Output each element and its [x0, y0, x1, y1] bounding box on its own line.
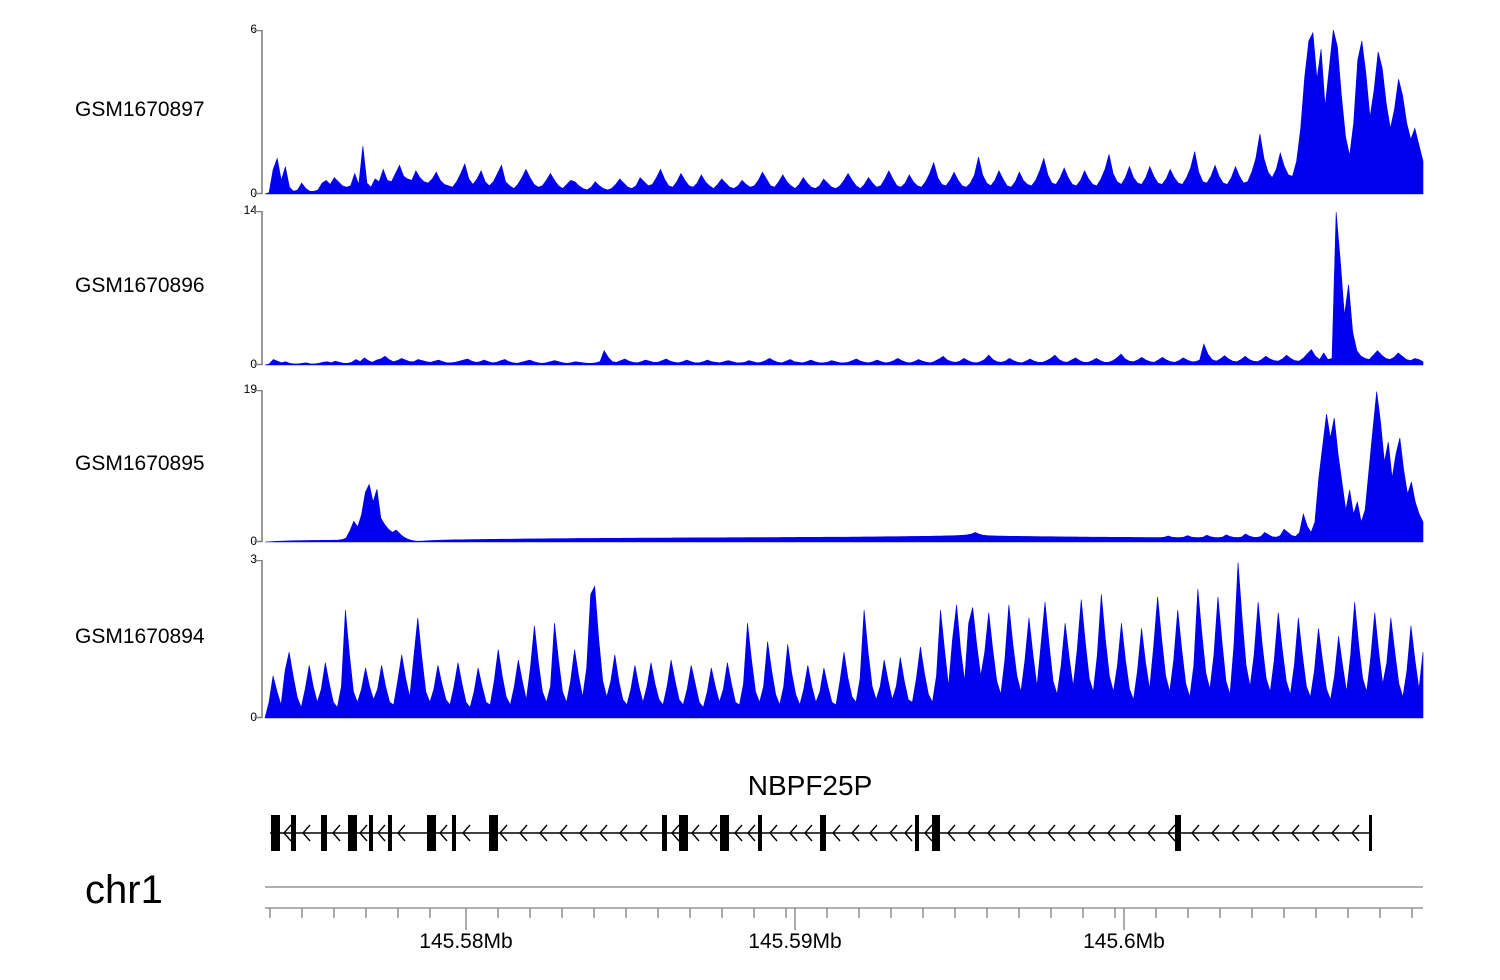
coverage-area — [265, 212, 1423, 365]
exon-box[interactable] — [679, 815, 688, 851]
axis-tick-label: 145.6Mb — [1083, 930, 1165, 954]
coverage-area — [265, 392, 1423, 542]
exon-box[interactable] — [915, 815, 919, 851]
ruler-svg[interactable] — [0, 875, 1500, 935]
genome-browser: GSM167089760GSM1670896140GSM1670895190GS… — [0, 0, 1500, 980]
coverage-area — [265, 563, 1423, 718]
exon-box[interactable] — [369, 815, 373, 851]
exon-box[interactable] — [427, 815, 436, 851]
coverage-plot-gsm1670897[interactable] — [0, 30, 1500, 200]
exon-box[interactable] — [932, 815, 940, 851]
axis-tick-label: 145.58Mb — [419, 930, 512, 954]
exon-box[interactable] — [820, 815, 826, 851]
exon-box[interactable] — [291, 815, 296, 851]
exon-box[interactable] — [662, 815, 667, 851]
coverage-plot-gsm1670894[interactable] — [0, 560, 1500, 724]
exon-box[interactable] — [348, 815, 357, 851]
exon-box[interactable] — [271, 815, 280, 851]
coverage-plot-gsm1670896[interactable] — [0, 211, 1500, 371]
y-axis-bracket — [254, 31, 262, 194]
exon-box[interactable] — [758, 815, 762, 851]
exon-box[interactable] — [1369, 815, 1372, 851]
exon-box[interactable] — [452, 815, 456, 851]
exon-box[interactable] — [489, 815, 498, 851]
y-axis-bracket — [254, 391, 262, 542]
gene-model-svg[interactable] — [0, 805, 1500, 865]
axis-tick-label: 145.59Mb — [748, 930, 841, 954]
y-axis-bracket — [254, 212, 262, 365]
exon-box[interactable] — [321, 815, 327, 851]
gene-name-label: NBPF25P — [640, 770, 980, 802]
exon-box[interactable] — [720, 815, 729, 851]
genome-coordinate-ruler[interactable]: 145.58Mb145.59Mb145.6Mb — [0, 875, 1500, 980]
exon-box[interactable] — [1175, 815, 1181, 851]
coverage-plot-gsm1670895[interactable] — [0, 390, 1500, 548]
exon-box[interactable] — [388, 815, 392, 851]
coverage-area — [265, 30, 1423, 194]
gene-annotation-track[interactable] — [0, 805, 1500, 865]
y-axis-bracket — [254, 561, 262, 718]
